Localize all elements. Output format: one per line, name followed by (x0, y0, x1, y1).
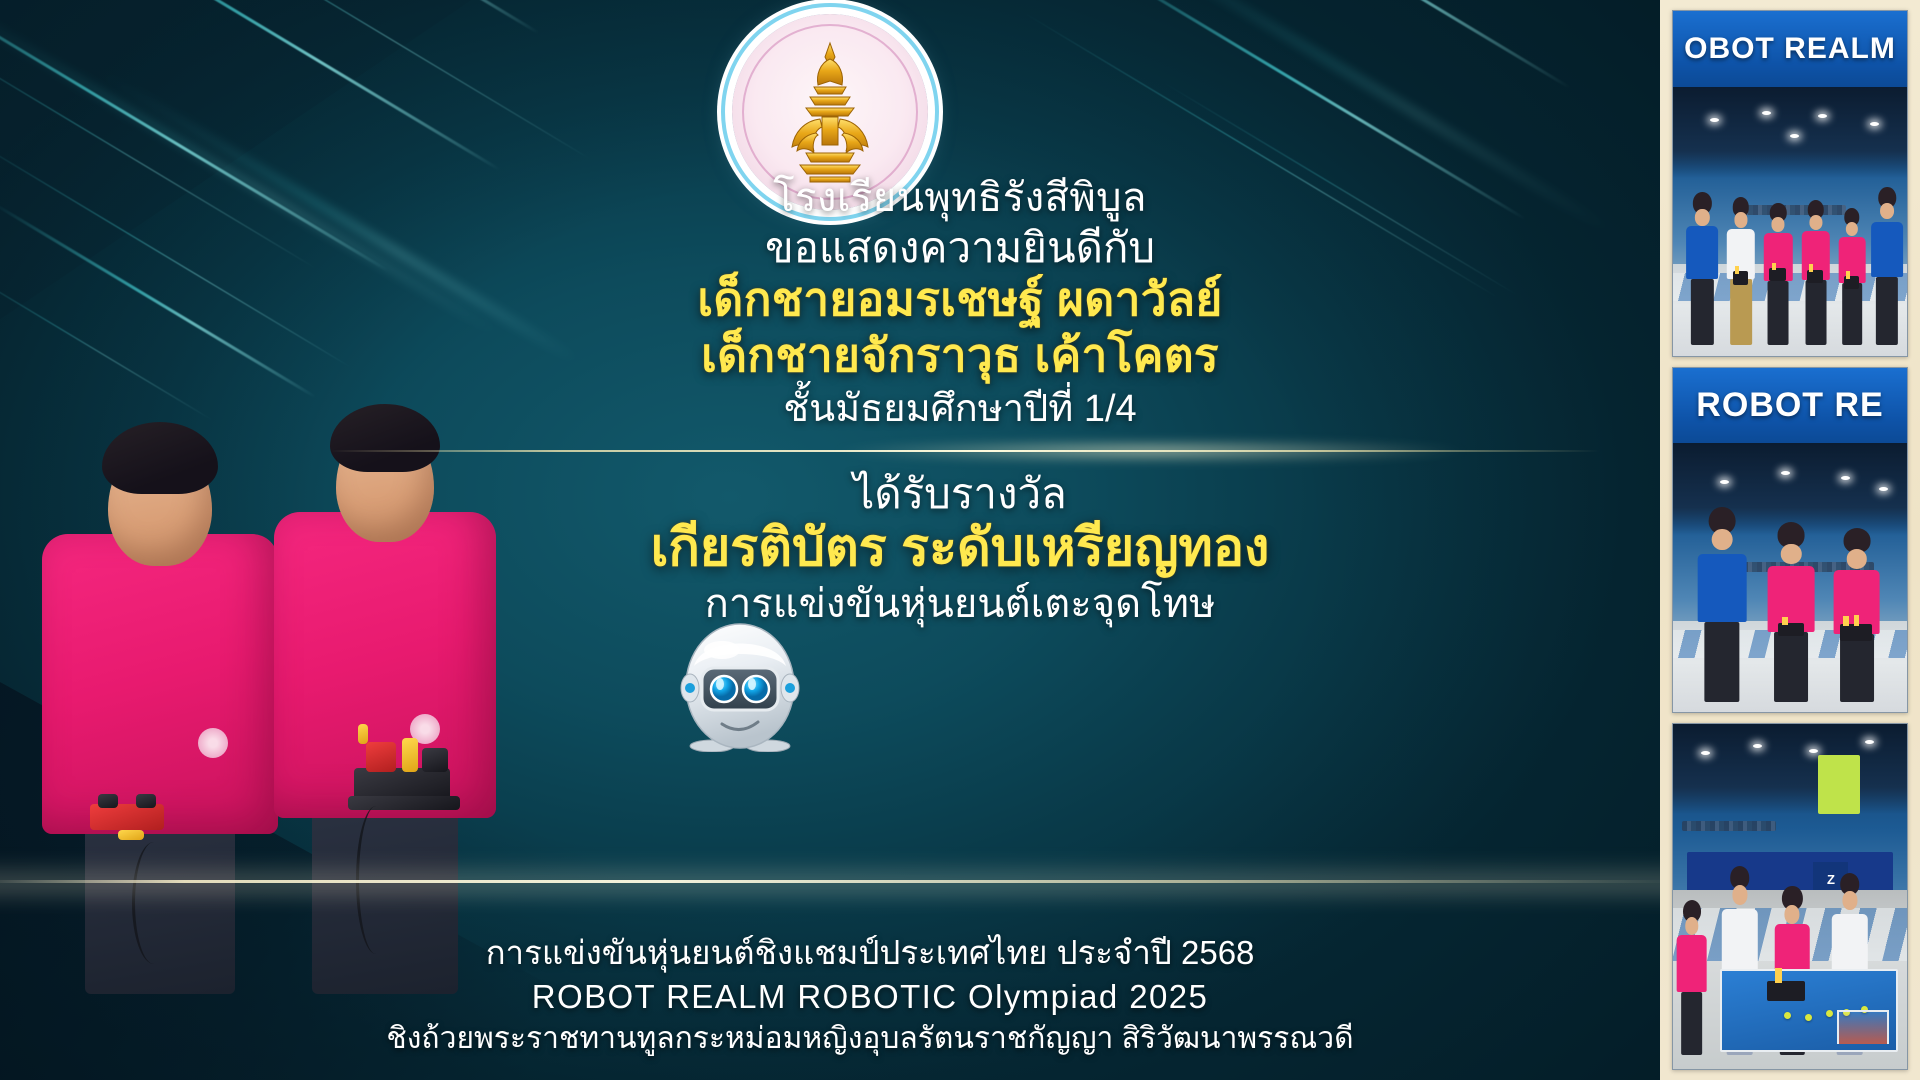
person-student-1 (1722, 194, 1759, 345)
person-teacher-left (1682, 189, 1722, 345)
student-name-1: เด็กชายอมรเชษฐ์ ผดาวัลย์ (300, 272, 1620, 327)
ball (1826, 1010, 1833, 1017)
person-student-right (1827, 524, 1886, 701)
person-student-left (1762, 519, 1821, 702)
person-teacher-right (1867, 184, 1907, 345)
photo-banner-text-1: OBOT REALM (1684, 32, 1896, 66)
poster-main-panel: โรงเรียนพุทธิรังสีพิบูล ขอแสดงความยินดีก… (0, 0, 1660, 1080)
received-label: ได้รับรางวัล (300, 470, 1620, 518)
award-text-block: ได้รับรางวัล เกียรติบัตร ระดับเหรียญทอง … (300, 470, 1620, 628)
footer-text-block: การแข่งขันหุ่นยนต์ชิงแชมป์ประเทศไทย ประจ… (120, 932, 1620, 1058)
ball (1784, 1012, 1791, 1019)
footer-line-3: ชิงถ้วยพระราชทานทูลกระหม่อมหญิงอุบลรัตนร… (120, 1019, 1620, 1058)
photo-hall-scene-1 (1673, 87, 1907, 356)
wall-panel-green (1818, 755, 1860, 814)
competition-robot (1767, 981, 1805, 1001)
robot-prop-left (90, 794, 182, 848)
person-student-3 (1797, 197, 1834, 345)
poster-stage: โรงเรียนพุทธิรังสีพิบูล ขอแสดงความยินดีก… (0, 0, 1920, 1080)
goal-frame (1837, 1010, 1889, 1043)
photo-banner-2: ROBOT RE (1673, 368, 1907, 444)
event-name: การแข่งขันหุ่นยนต์เตะจุดโทษ (300, 580, 1620, 628)
gold-band-line (0, 880, 1660, 883)
footer-line-1: การแข่งขันหุ่นยนต์ชิงแชมป์ประเทศไทย ประจ… (120, 932, 1620, 975)
photo-hall-scene-3: Z (1673, 724, 1907, 1069)
ceiling (1673, 724, 1907, 814)
person-student-2 (1760, 200, 1797, 345)
competition-field-photo: Z (1672, 723, 1908, 1070)
robot-competition-field (1720, 969, 1898, 1052)
person-pink-left (1673, 897, 1710, 1056)
student-photo-left (30, 354, 290, 994)
robot-prop-right (344, 708, 464, 818)
school-name: โรงเรียนพุทธิรังสีพิบูล (300, 176, 1620, 221)
group-photo-with-teachers: OBOT REALM (1672, 10, 1908, 357)
robot-mascot-icon (650, 620, 830, 752)
ceiling (1673, 87, 1907, 178)
ball (1805, 1014, 1812, 1021)
person-teacher (1692, 503, 1753, 702)
congratulations-line: ขอแสดงความยินดีกับ (300, 223, 1620, 273)
student-name-2: เด็กชายจักราวุธ เค้าโคตร (300, 328, 1620, 383)
robot-model (1840, 624, 1872, 642)
photo-banner-text-2: ROBOT RE (1696, 386, 1883, 425)
gold-divider-line (330, 450, 1600, 452)
photo-banner-1: OBOT REALM (1673, 11, 1907, 87)
teacher-and-two-students-photo: ROBOT RE (1672, 367, 1908, 714)
photo-hall-scene-2 (1673, 443, 1907, 712)
robot-controller (1778, 623, 1804, 636)
award-title: เกียรติบัตร ระดับเหรียญทอง (300, 518, 1620, 579)
headline-text-block: โรงเรียนพุทธิรังสีพิบูล ขอแสดงความยินดีก… (300, 176, 1620, 432)
footer-line-2: ROBOT REALM ROBOTIC Olympiad 2025 (120, 975, 1620, 1019)
photo-rail: OBOT REALM (1660, 0, 1920, 1080)
person-student-4 (1834, 205, 1869, 345)
class-level: ชั้นมัธยมศึกษาปีที่ 1/4 (300, 387, 1620, 433)
